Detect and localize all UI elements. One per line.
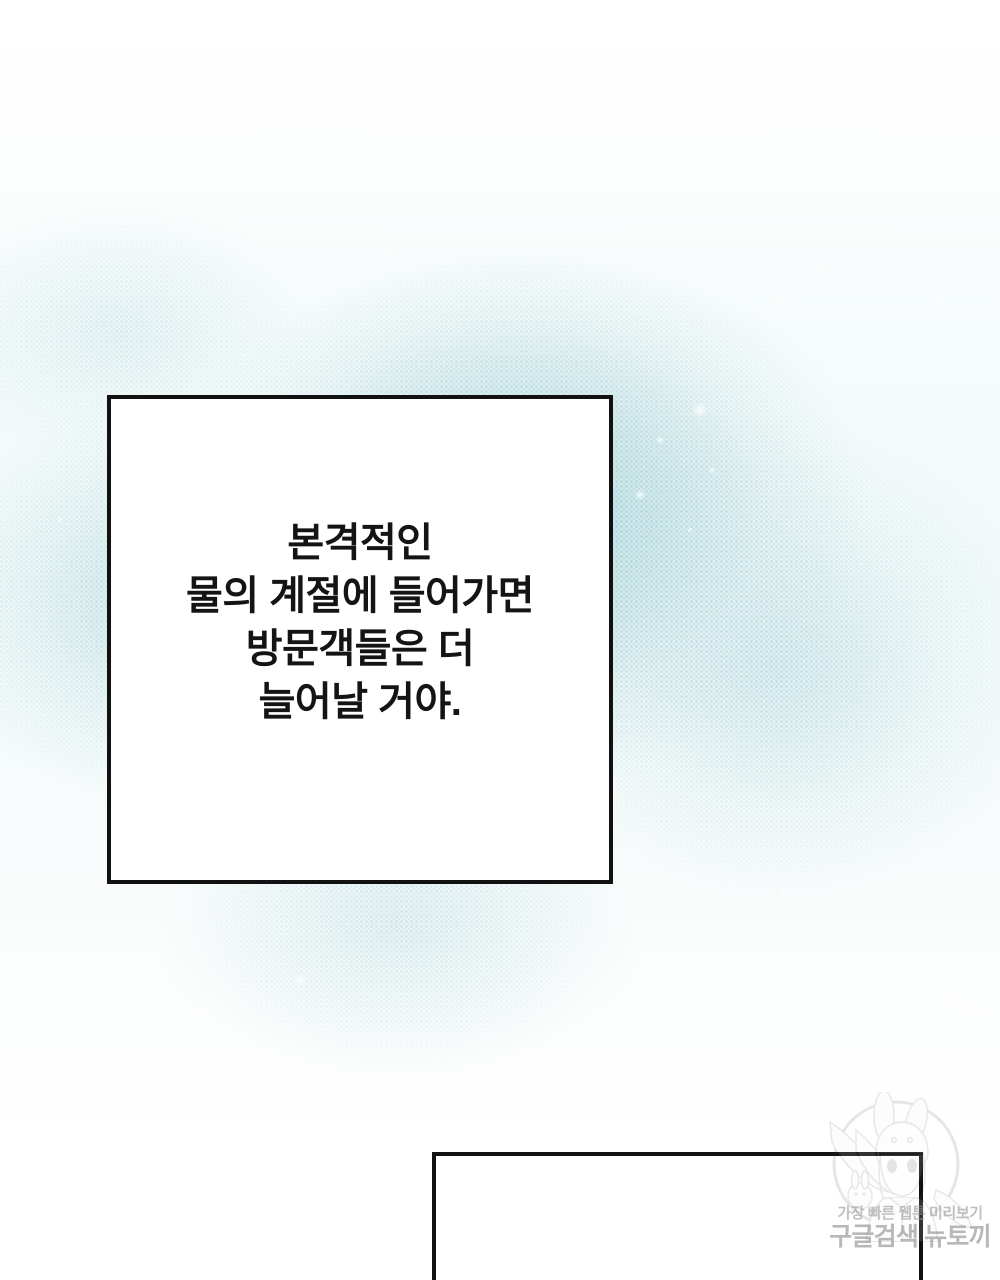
main-dialogue-panel: 본격적인 물의 계절에 들어가면 방문객들은 더 늘어날 거야.	[107, 395, 613, 884]
dialogue-line-3: 방문객들은 더	[111, 623, 609, 676]
next-panel	[432, 1152, 923, 1280]
dialogue-text-block: 본격적인 물의 계절에 들어가면 방문객들은 더 늘어날 거야.	[111, 517, 609, 729]
dialogue-line-4: 늘어날 거야.	[111, 676, 609, 729]
dialogue-line-2: 물의 계절에 들어가면	[111, 570, 609, 623]
webtoon-page: 본격적인 물의 계절에 들어가면 방문객들은 더 늘어날 거야.	[0, 0, 1000, 1280]
dialogue-line-1: 본격적인	[111, 517, 609, 570]
